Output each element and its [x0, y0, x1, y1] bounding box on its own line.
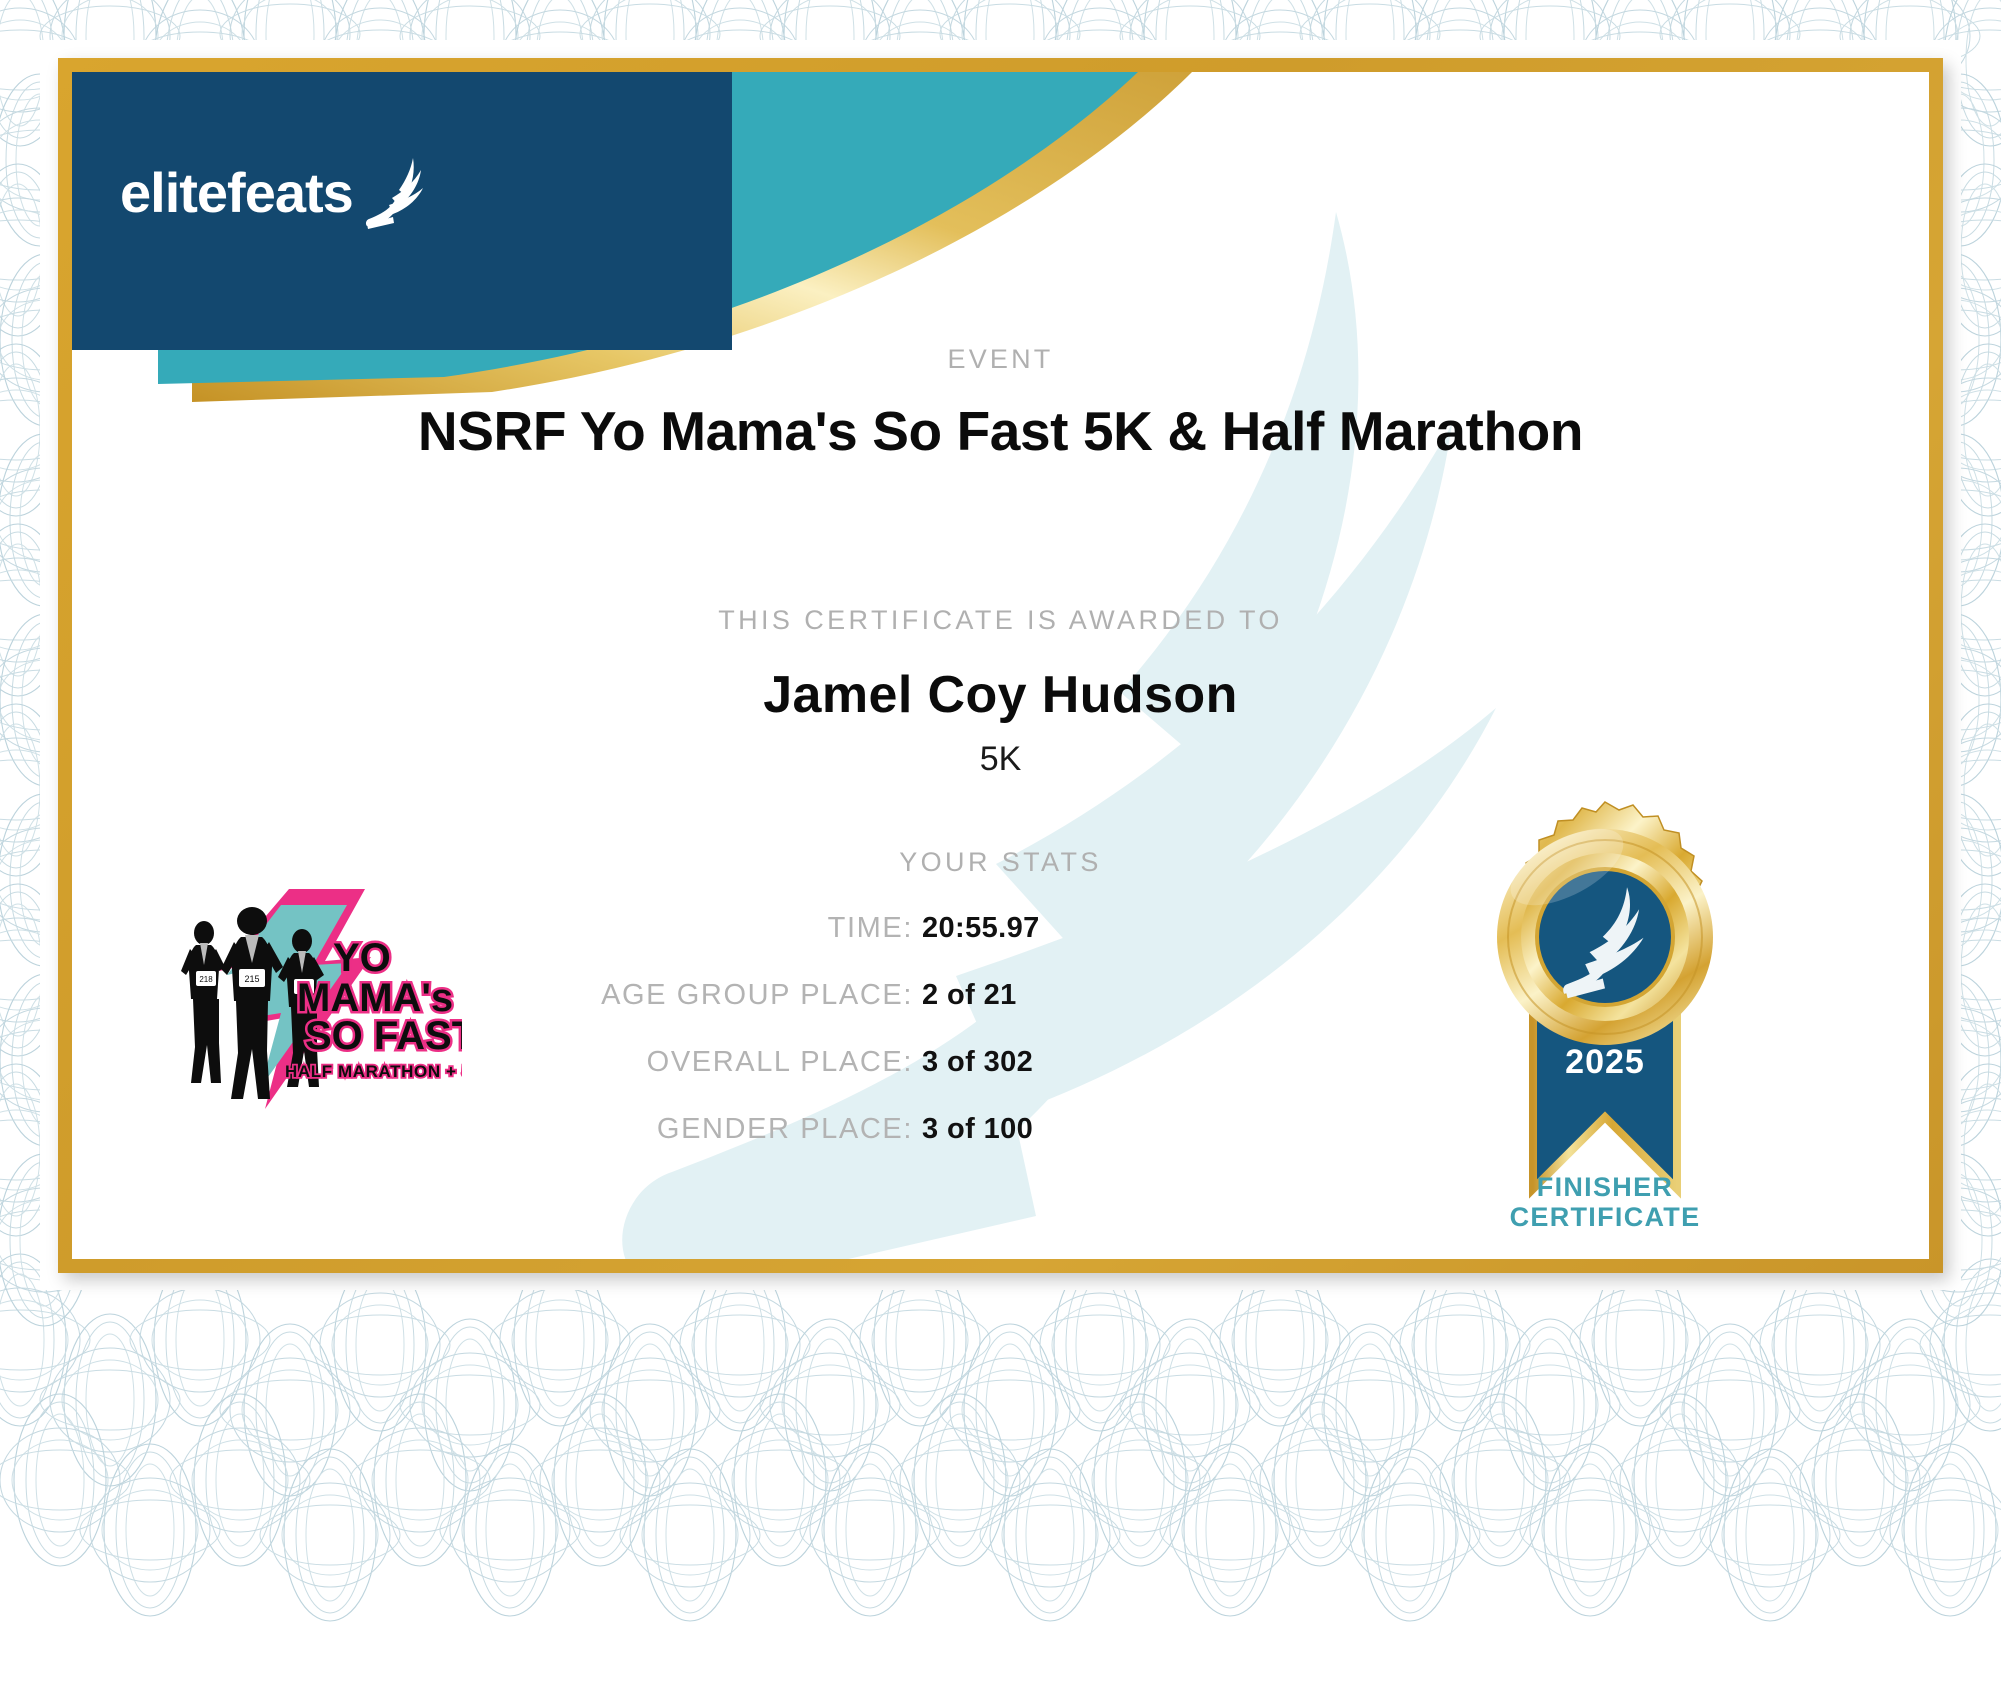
race-distance: 5K [72, 740, 1929, 779]
event-label: EVENT [72, 344, 1929, 375]
finisher-certificate-caption: FINISHER CERTIFICATE [1452, 1172, 1758, 1232]
stat-row: GENDER PLACE: 3 of 100 [282, 1113, 1262, 1153]
recipient-name: Jamel Coy Hudson [72, 665, 1929, 725]
race-logo-line4: HALF MARATHON + 5K [285, 1062, 462, 1081]
stat-value-gender-place: 3 of 100 [922, 1113, 1262, 1146]
stat-value-overall-place: 3 of 302 [922, 1046, 1262, 1079]
stat-label-gender-place: GENDER PLACE: [282, 1113, 922, 1146]
event-title: NSRF Yo Mama's So Fast 5K & Half Maratho… [72, 399, 1929, 463]
race-event-logo: 218 215 [157, 887, 462, 1112]
svg-text:215: 215 [244, 974, 259, 984]
medal-year: 2025 [1565, 1043, 1645, 1081]
race-logo-line3: SO FAST [305, 1014, 462, 1058]
stat-value-time: 20:55.97 [922, 912, 1262, 945]
certificate-body: elitefeats [72, 72, 1929, 1259]
awarded-to-label: THIS CERTIFICATE IS AWARDED TO [72, 605, 1929, 636]
svg-text:218: 218 [199, 975, 213, 984]
certificate-content: EVENT NSRF Yo Mama's So Fast 5K & Half M… [72, 72, 1929, 1259]
gold-certificate-frame: elitefeats [58, 58, 1943, 1273]
race-logo-line1: YO [333, 936, 391, 980]
finisher-medal-badge: 2025 [1455, 797, 1755, 1217]
certificate-page: elitefeats [0, 0, 2001, 1700]
stat-value-age-group-place: 2 of 21 [922, 979, 1262, 1012]
finisher-caption-line1: FINISHER [1452, 1172, 1758, 1202]
finisher-caption-line2: CERTIFICATE [1452, 1202, 1758, 1232]
